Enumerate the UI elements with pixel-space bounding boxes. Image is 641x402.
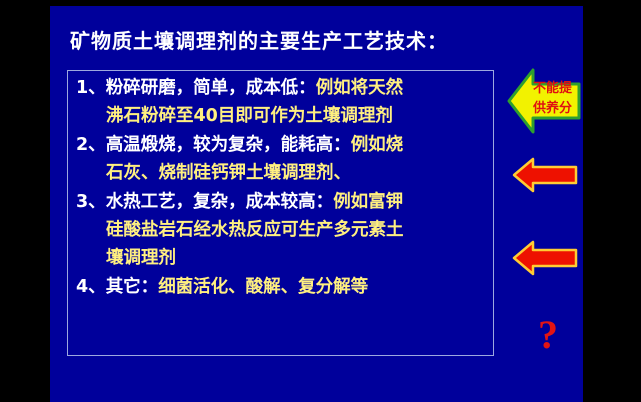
- list-item-wrap: 硅酸盐岩石经水热反应可生产多元素土: [76, 216, 488, 244]
- question-mark-icon: ?: [528, 312, 568, 358]
- list-item-tail: 细菌活化、酸解、复分解等: [158, 277, 368, 297]
- list-item-number: 1、: [76, 78, 106, 98]
- list-item-tail: 例如将天然: [316, 78, 404, 98]
- list-item-head: 其它：: [106, 277, 159, 297]
- list-item-head: 水热工艺，复杂，成本较高：: [106, 192, 334, 212]
- list-item-number: 2、: [76, 135, 106, 155]
- bullet-list: 1、粉碎研磨，简单，成本低：例如将天然 沸石粉碎至40目即可作为土壤调理剂 2、…: [76, 74, 488, 302]
- callout-line-2: 供养分: [533, 99, 579, 119]
- left-arrow-icon-1: [512, 156, 578, 194]
- list-item: 1、粉碎研磨，简单，成本低：例如将天然 沸石粉碎至40目即可作为土壤调理剂: [76, 74, 488, 130]
- left-arrow-icon-2: [512, 239, 578, 277]
- slide-root: 矿物质土壤调理剂的主要生产工艺技术： 1、粉碎研磨，简单，成本低：例如将天然 沸…: [0, 0, 641, 402]
- list-item-head: 高温煅烧，较为复杂，能耗高：: [106, 135, 351, 155]
- list-item-wrap-2: 壤调理剂: [76, 244, 488, 272]
- list-item-wrap: 沸石粉碎至40目即可作为土壤调理剂: [76, 102, 488, 130]
- list-item: 2、高温煅烧，较为复杂，能耗高：例如烧 石灰、烧制硅钙钾土壤调理剂、: [76, 131, 488, 187]
- list-item-tail: 例如烧: [351, 135, 404, 155]
- list-item: 4、其它：细菌活化、酸解、复分解等: [76, 273, 488, 301]
- list-item-tail: 例如富钾: [333, 192, 403, 212]
- list-item-number: 3、: [76, 192, 106, 212]
- list-item-wrap: 石灰、烧制硅钙钾土壤调理剂、: [76, 159, 488, 187]
- list-item-head: 粉碎研磨，简单，成本低：: [106, 78, 316, 98]
- callout-text: 不能提 供养分: [533, 79, 579, 119]
- page-title: 矿物质土壤调理剂的主要生产工艺技术：: [70, 24, 540, 58]
- list-item: 3、水热工艺，复杂，成本较高：例如富钾 硅酸盐岩石经水热反应可生产多元素土 壤调…: [76, 188, 488, 272]
- list-item-number: 4、: [76, 277, 106, 297]
- callout-line-1: 不能提: [533, 79, 579, 99]
